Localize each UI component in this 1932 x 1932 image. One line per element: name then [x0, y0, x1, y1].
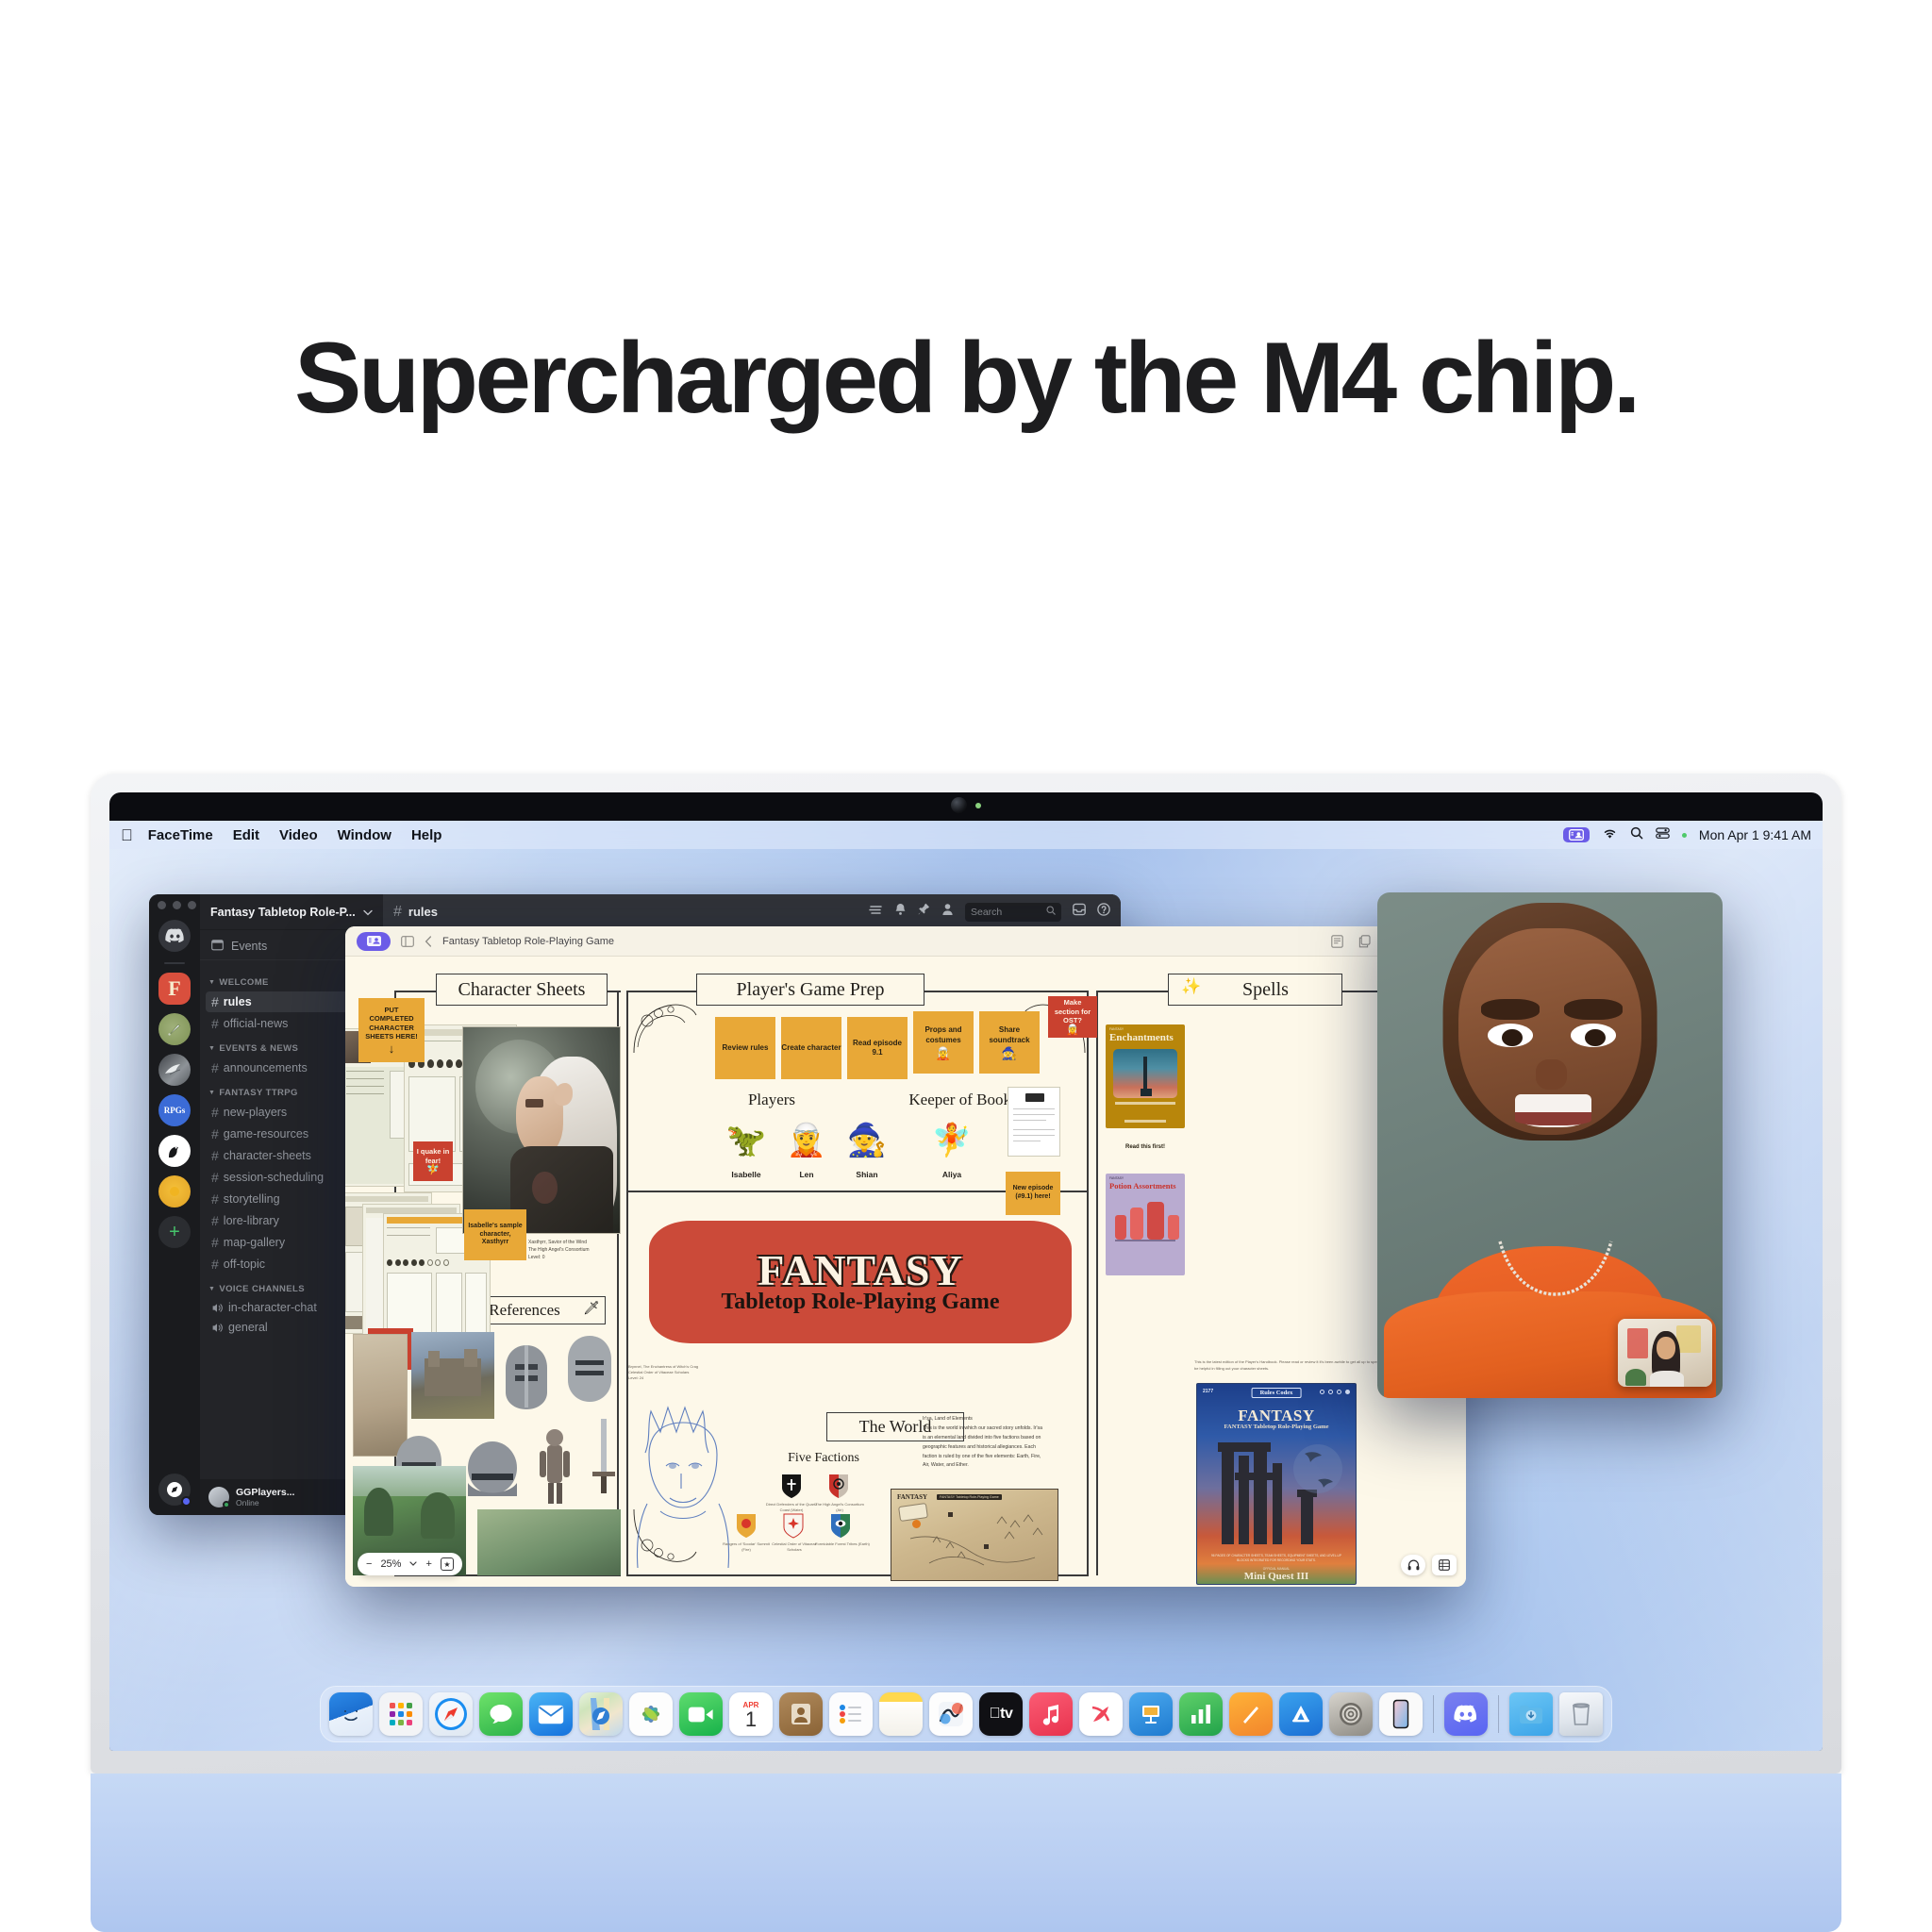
- poster-subtitle: FANTASY Tabletop Role-Playing Game: [1197, 1424, 1356, 1430]
- channel-label: character-sheets: [224, 1149, 311, 1162]
- wifi-icon[interactable]: [1602, 827, 1618, 843]
- camera-lens-icon: [951, 797, 967, 813]
- dock-item-iphone-mirroring[interactable]: [1379, 1692, 1423, 1736]
- dock-divider: [1498, 1695, 1499, 1733]
- sticky-note-icon[interactable]: [1331, 935, 1343, 948]
- channel-label: official-news: [224, 1017, 289, 1030]
- shapes-icon[interactable]: [1358, 935, 1371, 948]
- task-label: Read episode 9.1: [847, 1039, 908, 1058]
- freeform-window[interactable]: Fantasy Tabletop Role-Playing Game A: [345, 926, 1466, 1587]
- media-controls[interactable]: [1401, 1555, 1457, 1575]
- task-label: Props and costumes: [913, 1025, 974, 1045]
- freeform-document-title: Fantasy Tabletop Role-Playing Game: [442, 936, 614, 947]
- task-card-read-episode[interactable]: Read episode 9.1: [847, 1017, 908, 1079]
- discord-add-server-button[interactable]: +: [158, 1216, 191, 1248]
- dock-item-finder[interactable]: [329, 1692, 373, 1736]
- sticky-note-put-completed[interactable]: PUT COMPLETED CHARACTER SHEETS HERE! ↓: [358, 998, 425, 1062]
- sparkles-icon: ✨: [1181, 977, 1201, 996]
- book-meta: ​: [1106, 1130, 1185, 1138]
- webcam: [951, 797, 981, 813]
- dock-divider: [1433, 1695, 1434, 1733]
- menu-facetime[interactable]: FaceTime: [148, 827, 213, 843]
- hash-icon: #: [211, 1105, 219, 1120]
- category-label: EVENTS & NEWS: [219, 1043, 298, 1054]
- character-caption: Xasthyrr, Savior of the Wind The High An…: [528, 1240, 641, 1261]
- members-icon[interactable]: [941, 903, 954, 921]
- zoom-level[interactable]: 25%: [380, 1558, 401, 1570]
- keeper-name-aliya: Aliya: [926, 1170, 977, 1179]
- macbook-device:  FaceTime Edit Video Window Help: [91, 774, 1841, 1774]
- hash-icon: #: [211, 1148, 219, 1163]
- pin-icon[interactable]: [918, 903, 930, 921]
- hash-icon: #: [211, 1257, 219, 1272]
- task-card-props-costumes[interactable]: Props and costumes 🧝: [913, 1011, 974, 1074]
- reference-castle-photo[interactable]: [411, 1332, 494, 1419]
- active-channel-name: rules: [408, 905, 438, 919]
- hash-icon: #: [211, 1170, 219, 1185]
- channel-label: new-players: [224, 1106, 287, 1119]
- faction-label-forest-tribes: Formidable Forest Tribes (Earth): [815, 1541, 870, 1547]
- dock-item-keynote[interactable]: [1129, 1692, 1173, 1736]
- threads-icon[interactable]: [869, 904, 883, 921]
- player-name-isabelle: Isabelle: [721, 1170, 772, 1179]
- sticky-text: New episode (#9.1) here!: [1008, 1185, 1058, 1202]
- macos-dock[interactable]: APR 1 tv: [320, 1686, 1612, 1742]
- online-status-dot: [223, 1501, 230, 1508]
- dock-item-calendar[interactable]: APR 1: [729, 1692, 773, 1736]
- channel-label: general: [228, 1321, 268, 1334]
- discord-server-grey-dragon[interactable]: [158, 1054, 191, 1086]
- facetime-self-view[interactable]: [1618, 1319, 1712, 1387]
- server-initial: RPGs: [164, 1106, 186, 1115]
- arrow-down-icon: ↓: [389, 1042, 395, 1055]
- chevron-down-icon[interactable]: [363, 906, 373, 919]
- world-description: Ir'sa, Land of Elements This is the worl…: [923, 1415, 1043, 1471]
- caption-line: Level: 24: [628, 1375, 743, 1381]
- book-title: Potion Assortments: [1109, 1182, 1181, 1191]
- dock-item-discord[interactable]: [1444, 1692, 1488, 1736]
- dock-item-pages[interactable]: [1229, 1692, 1273, 1736]
- channel-label: in-character-chat: [228, 1301, 317, 1314]
- search-input[interactable]: Search: [965, 903, 1061, 922]
- list-icon[interactable]: [1432, 1555, 1457, 1575]
- hash-icon: #: [211, 1126, 219, 1141]
- plus-icon: +: [169, 1222, 180, 1243]
- discord-server-rail: F RPGs: [149, 894, 200, 1515]
- menu-video[interactable]: Video: [279, 827, 318, 843]
- sidebar-icon[interactable]: [401, 936, 414, 947]
- channel-label: rules: [224, 995, 252, 1008]
- username: GGPlayers...: [236, 1487, 294, 1498]
- macos-menubar:  FaceTime Edit Video Window Help: [109, 821, 1823, 849]
- frame-border: [1087, 991, 1089, 1575]
- search-placeholder: Search: [971, 907, 1002, 918]
- faction-shield-forest-tribes[interactable]: [830, 1513, 851, 1539]
- maximize-button[interactable]: [188, 901, 196, 909]
- channel-label: game-resources: [224, 1127, 308, 1141]
- book-title: Enchantments: [1109, 1033, 1181, 1043]
- user-status: Online: [236, 1498, 294, 1507]
- close-button[interactable]: [158, 901, 166, 909]
- sticky-text: I quake in fear!: [416, 1147, 450, 1165]
- dock-item-safari[interactable]: [429, 1692, 473, 1736]
- reference-helmet[interactable]: [496, 1340, 557, 1415]
- faction-shield-rangers[interactable]: [736, 1513, 757, 1539]
- zoom-control[interactable]: − 25% + ★: [358, 1553, 462, 1575]
- discord-server-header[interactable]: Fantasy Tabletop Role-P...: [200, 894, 383, 930]
- faction-shield-celestial-order[interactable]: [783, 1513, 804, 1539]
- sticky-text: PUT COMPLETED CHARACTER SHEETS HERE!: [361, 1006, 422, 1041]
- speaker-icon: [211, 1322, 224, 1334]
- fantasy-logo[interactable]: FANTASY Tabletop Role-Playing Game: [649, 1221, 1072, 1343]
- channel-label: storytelling: [224, 1192, 280, 1206]
- dock-item-news[interactable]: [1079, 1692, 1123, 1736]
- elf-emoji[interactable]: 🧝: [785, 1124, 828, 1157]
- chevron-down-icon: ▼: [208, 1286, 215, 1292]
- caption-line: Xasthyrr, Savior of the Wind: [528, 1240, 641, 1247]
- faction-label-quartz-coast: Direct Defenders of the Quartz Coast (Wa…: [764, 1502, 819, 1513]
- sticky-text: Isabelle's sample character, Xasthyrr: [467, 1223, 524, 1247]
- troll-emoji[interactable]: 🦖: [724, 1124, 768, 1157]
- task-label: Create character: [781, 1043, 841, 1053]
- hash-icon: #: [211, 994, 219, 1009]
- channel-label: session-scheduling: [224, 1171, 324, 1184]
- chevron-down-icon: ▼: [208, 1090, 215, 1096]
- control-center-icon[interactable]: [1656, 827, 1670, 843]
- poster-mini-quest-iii[interactable]: 2177 Rules Codex FANTASY FANTASY Tableto…: [1196, 1383, 1357, 1585]
- dock-item-notes[interactable]: [879, 1692, 923, 1736]
- search-icon: [1046, 906, 1056, 918]
- section-title-game-prep[interactable]: Player's Game Prep: [696, 974, 924, 1006]
- reference-sword[interactable]: [587, 1415, 621, 1498]
- screen-share-icon[interactable]: [1563, 827, 1590, 842]
- book-enchantments[interactable]: FANTASY Enchantments: [1106, 1024, 1185, 1128]
- reference-helmet[interactable]: [560, 1332, 619, 1406]
- character-portrait-xasthyrr[interactable]: [462, 1026, 621, 1234]
- server-name: Fantasy Tabletop Role-P...: [210, 906, 356, 919]
- faction-label-celestial-order: Celestial Order of Vitaceae Scholars: [768, 1541, 821, 1553]
- rail-divider: [164, 962, 185, 964]
- chevron-down-icon: ▼: [208, 979, 215, 986]
- search-icon[interactable]: [1630, 826, 1643, 843]
- help-icon[interactable]: [1097, 903, 1110, 921]
- dock-item-maps[interactable]: [579, 1692, 623, 1736]
- channel-label: announcements: [224, 1061, 308, 1074]
- faction-shield-quartz-coast[interactable]: [781, 1474, 802, 1499]
- logo-subtitle: Tabletop Role-Playing Game: [721, 1291, 999, 1314]
- discord-channel-header: # rules: [383, 894, 1121, 930]
- players-heading: Players: [715, 1091, 828, 1109]
- category-label: FANTASY TTRPG: [219, 1088, 298, 1098]
- dock-item-app-store[interactable]: [1279, 1692, 1323, 1736]
- dock-item-facetime[interactable]: [679, 1692, 723, 1736]
- laptop-base: [91, 1774, 1841, 1932]
- speaker-icon: [211, 1302, 224, 1314]
- hash-icon: #: [211, 1235, 219, 1250]
- task-card-share-soundtrack[interactable]: Share soundtrack 🧙: [979, 1011, 1040, 1074]
- calendar-day: 1: [745, 1709, 757, 1730]
- dock-item-contacts[interactable]: [779, 1692, 823, 1736]
- server-initial: F: [168, 976, 180, 1001]
- recording-indicator: [1682, 833, 1687, 838]
- dock-item-photos[interactable]: [629, 1692, 673, 1736]
- zoom-out-button[interactable]: −: [366, 1558, 372, 1570]
- channel-label: lore-library: [224, 1214, 279, 1227]
- dock-item-launchpad[interactable]: [379, 1692, 423, 1736]
- caption-line: Level: 0: [528, 1255, 641, 1262]
- discord-home-icon[interactable]: [158, 920, 191, 952]
- faction-label-rangers: Rangers of 'Soodar' Summit (Fire): [719, 1541, 774, 1553]
- discord-download-apps[interactable]: [158, 1474, 191, 1506]
- reference-forest-photo[interactable]: [477, 1509, 621, 1575]
- necklace: [1494, 1240, 1617, 1307]
- sticky-note-isabelles-sample[interactable]: Isabelle's sample character, Xasthyrr: [464, 1209, 526, 1260]
- category-label: VOICE CHANNELS: [219, 1284, 305, 1294]
- player-name-len: Len: [781, 1170, 832, 1179]
- headphones-icon[interactable]: [1401, 1555, 1425, 1575]
- dock-item-reminders[interactable]: [829, 1692, 873, 1736]
- hash-icon: #: [211, 1191, 219, 1207]
- share-button[interactable]: [357, 932, 391, 951]
- minimize-button[interactable]: [173, 901, 181, 909]
- sticky-text: Make section for OST?: [1051, 998, 1094, 1024]
- logo-title: FANTASY: [758, 1250, 962, 1291]
- spell-note: ​: [1194, 1194, 1275, 1201]
- dock-item-downloads-folder[interactable]: [1509, 1692, 1553, 1736]
- discord-server-white-knight[interactable]: [158, 1135, 191, 1167]
- freeform-toolbar: Fantasy Tabletop Role-Playing Game A: [345, 926, 1466, 957]
- channel-label: map-gallery: [224, 1236, 285, 1249]
- poster-title: Mini Quest III: [1197, 1571, 1356, 1582]
- task-label: Share soundtrack: [979, 1025, 1040, 1045]
- book-potion-assortments[interactable]: FANTASY Potion Assortments: [1106, 1174, 1185, 1275]
- window-traffic-lights[interactable]: [149, 901, 196, 909]
- hash-icon: #: [393, 904, 402, 921]
- menu-edit[interactable]: Edit: [233, 827, 259, 843]
- channel-label: off-topic: [224, 1257, 265, 1271]
- document-preview[interactable]: [1008, 1087, 1060, 1157]
- section-title-character-sheets[interactable]: Character Sheets: [436, 974, 608, 1006]
- chevron-down-icon[interactable]: [409, 1558, 417, 1570]
- bell-icon[interactable]: [894, 903, 907, 921]
- sketch-caption: Brynnel, The Enchantress of Witch's Crag…: [628, 1364, 743, 1381]
- poster-badge: Rules Codex: [1252, 1388, 1302, 1398]
- reference-figure[interactable]: [530, 1421, 579, 1507]
- inbox-icon[interactable]: [1073, 903, 1086, 921]
- menubar-clock[interactable]: Mon Apr 1 9:41 AM: [1699, 827, 1811, 842]
- discord-server-rpgs[interactable]: RPGs: [158, 1094, 191, 1126]
- caption-line: The High Angel's Consortium: [528, 1247, 641, 1255]
- fairy-emoji: 🧚: [426, 1165, 440, 1175]
- facetime-pip-window[interactable]: [1377, 892, 1723, 1398]
- menu-window[interactable]: Window: [338, 827, 391, 843]
- sticky-note-new-episode[interactable]: New episode (#9.1) here!: [1006, 1172, 1060, 1215]
- unread-badge: [181, 1496, 192, 1507]
- task-label: Review rules: [723, 1043, 769, 1053]
- reference-helmet[interactable]: [462, 1436, 523, 1506]
- dock-item-apple-tv[interactable]: tv: [979, 1692, 1023, 1736]
- zoom-in-button[interactable]: +: [425, 1558, 431, 1570]
- note-read-this-first[interactable]: Read this first!: [1121, 1140, 1170, 1157]
- freeform-canvas[interactable]: Character Sheets Player's Game Prep Spel…: [345, 957, 1466, 1587]
- discord-server-green-dagger[interactable]: [158, 1013, 191, 1045]
- fit-to-screen-icon[interactable]: ★: [441, 1557, 454, 1571]
- faction-label-high-angels: The High Angel's Consortium (Air): [813, 1502, 866, 1513]
- world-map[interactable]: FANTASY FANTASY Tabletop Role-Playing Ga…: [891, 1489, 1058, 1581]
- avatar[interactable]: [208, 1487, 229, 1507]
- dock-item-numbers[interactable]: [1179, 1692, 1223, 1736]
- category-label: WELCOME: [219, 977, 268, 988]
- page-title: Supercharged by the M4 chip.: [0, 319, 1932, 436]
- poster-year: 2177: [1203, 1389, 1213, 1394]
- ornament-flourish: [630, 998, 704, 1057]
- sticky-note-i-quake[interactable]: I quake in fear! 🧚: [413, 1141, 453, 1181]
- elf-emoji: 🧝: [1066, 1025, 1079, 1036]
- dock-item-music[interactable]: [1029, 1692, 1073, 1736]
- desktop-screen:  FaceTime Edit Video Window Help: [109, 821, 1823, 1751]
- hash-icon: #: [211, 1016, 219, 1031]
- menu-help[interactable]: Help: [411, 827, 442, 843]
- frame-border: [1096, 991, 1098, 1575]
- hash-icon: #: [211, 1213, 219, 1228]
- dock-item-trash[interactable]: [1559, 1692, 1603, 1736]
- mage-emoji[interactable]: 🧙: [845, 1124, 889, 1157]
- sword-icon: 🗡: [583, 1300, 600, 1316]
- events-label: Events: [231, 940, 267, 953]
- apple-logo-icon[interactable]: : [121, 827, 133, 843]
- elf-emoji: 🧝: [936, 1047, 951, 1059]
- display-bezel:  FaceTime Edit Video Window Help: [109, 792, 1823, 1751]
- fairy-emoji[interactable]: 🧚: [930, 1124, 974, 1157]
- discord-server-gold-sun[interactable]: [158, 1175, 191, 1207]
- sticky-note-make-section-ost[interactable]: Make section for OST? 🧝: [1048, 996, 1097, 1038]
- five-factions-heading: Five Factions: [753, 1451, 894, 1466]
- discord-server-fantasy-ttrpg[interactable]: F: [158, 973, 191, 1005]
- camera-indicator-led: [975, 803, 981, 808]
- mage-emoji: 🧙: [1002, 1047, 1017, 1059]
- faction-shield-high-angels[interactable]: [828, 1474, 849, 1499]
- dock-item-freeform[interactable]: [929, 1692, 973, 1736]
- calendar-icon: [211, 939, 224, 954]
- chevron-left-icon[interactable]: [425, 936, 432, 947]
- player-name-shian: Shian: [841, 1170, 892, 1179]
- dock-item-messages[interactable]: [479, 1692, 523, 1736]
- hash-icon: #: [211, 1060, 219, 1075]
- task-card-review-rules[interactable]: Review rules: [715, 1017, 775, 1079]
- dock-item-system-settings[interactable]: [1329, 1692, 1373, 1736]
- task-card-create-character[interactable]: Create character: [781, 1017, 841, 1079]
- dock-item-mail[interactable]: [529, 1692, 573, 1736]
- chevron-down-icon: ▼: [208, 1045, 215, 1052]
